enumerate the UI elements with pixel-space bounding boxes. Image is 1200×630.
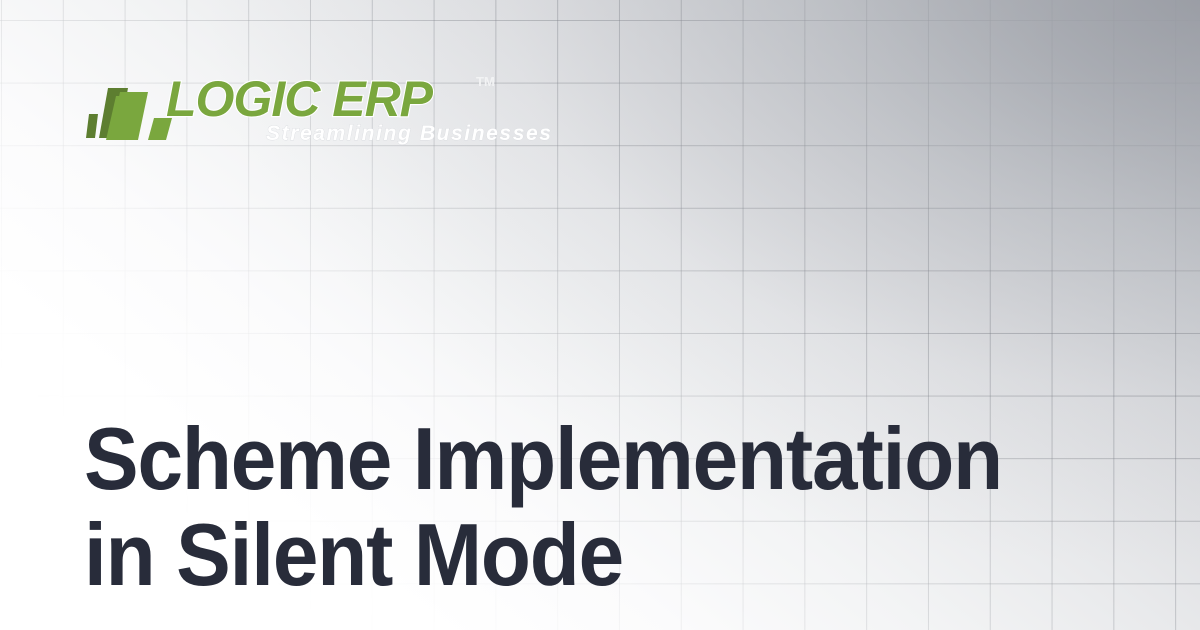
banner: LOGIC ERP TM Streamlining Businesses Sch… — [0, 0, 1200, 630]
page-title: Scheme Implementation in Silent Mode — [84, 411, 1061, 603]
logo-tagline-text: Streamlining Businesses — [266, 122, 553, 145]
logo-mark-icon — [86, 74, 172, 140]
logicerp-logo: LOGIC ERP TM Streamlining Businesses — [86, 68, 516, 148]
logo-trademark-text: TM — [476, 74, 495, 89]
logo-brand-text: LOGIC ERP — [166, 71, 434, 127]
logo-wordmark: LOGIC ERP TM Streamlining Businesses — [166, 68, 516, 148]
